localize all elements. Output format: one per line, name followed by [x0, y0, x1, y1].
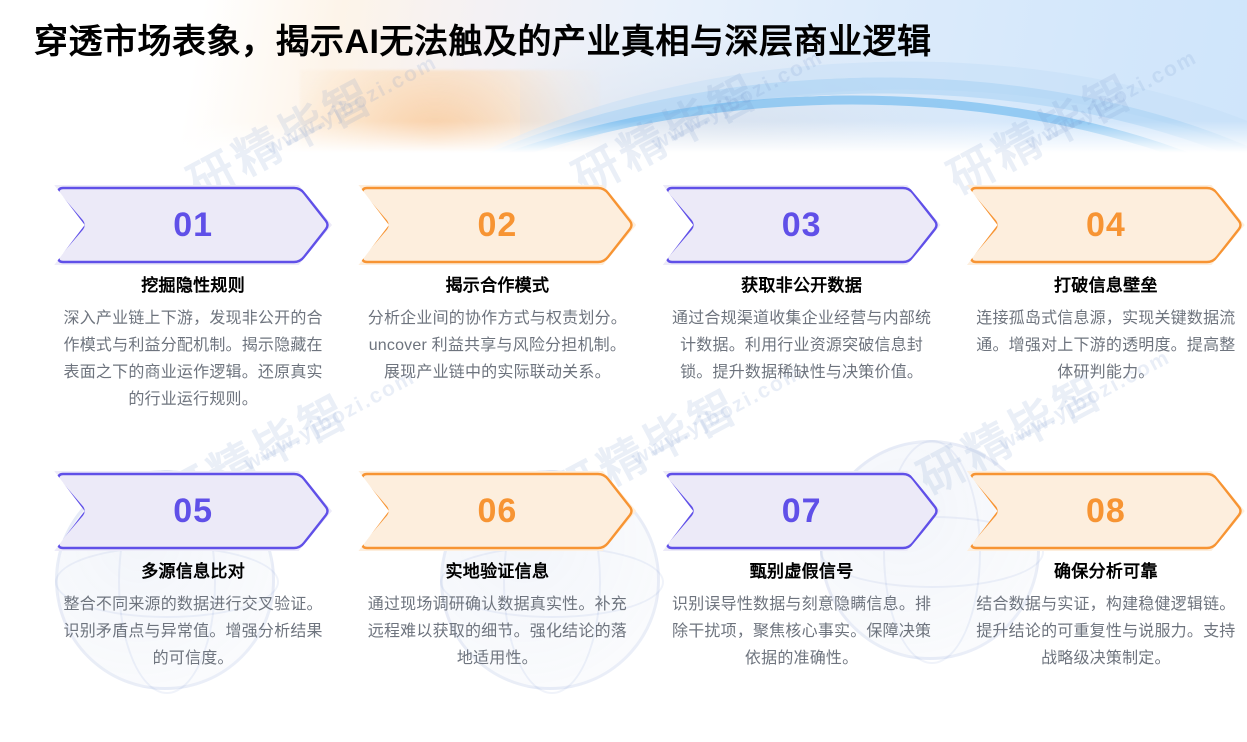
card-heading: 实地验证信息: [445, 561, 549, 583]
card-banner-01: 01: [54, 185, 332, 265]
card-body-text: 连接孤岛式信息源，实现关键数据流通。增强对上下游的透明度。提高整体研判能力。: [975, 306, 1237, 387]
card-number: 05: [173, 494, 213, 528]
card-banner-06: 06: [358, 471, 636, 551]
card-body-text: 整合不同来源的数据进行交叉验证。识别矛盾点与异常值。增强分析结果的可信度。: [62, 592, 324, 673]
cards-grid: 01 挖掘隐性规则 深入产业链上下游，发现非公开的合作模式与利益分配机制。揭示隐…: [0, 157, 1247, 742]
card-banner-02: 02: [358, 185, 636, 265]
card-01[interactable]: 01 挖掘隐性规则 深入产业链上下游，发现非公开的合作模式与利益分配机制。揭示隐…: [52, 185, 334, 477]
card-number: 08: [1086, 494, 1126, 528]
card-body-text: 通过现场调研确认数据真实性。补充远程难以获取的细节。强化结论的落地适用性。: [366, 592, 628, 673]
card-banner-03: 03: [663, 185, 941, 265]
card-03[interactable]: 03 获取非公开数据 通过合规渠道收集企业经营与内部统计数据。利用行业资源突破信…: [661, 185, 943, 477]
card-body-text: 通过合规渠道收集企业经营与内部统计数据。利用行业资源突破信息封锁。提升数据稀缺性…: [671, 306, 933, 387]
card-number: 06: [477, 494, 517, 528]
card-banner-07: 07: [663, 471, 941, 551]
card-body-text: 深入产业链上下游，发现非公开的合作模式与利益分配机制。揭示隐藏在表面之下的商业运…: [62, 306, 324, 414]
card-heading: 甄别虚假信号: [750, 561, 854, 583]
card-body-text: 识别误导性数据与刻意隐瞒信息。排除干扰项，聚焦核心事实。保障决策依据的准确性。: [671, 592, 933, 673]
card-number: 01: [173, 208, 213, 242]
card-number: 03: [782, 208, 822, 242]
card-04[interactable]: 04 打破信息壁垒 连接孤岛式信息源，实现关键数据流通。增强对上下游的透明度。提…: [965, 185, 1247, 477]
cards-row-top: 01 挖掘隐性规则 深入产业链上下游，发现非公开的合作模式与利益分配机制。揭示隐…: [0, 185, 1247, 477]
card-heading: 确保分析可靠: [1054, 561, 1158, 583]
page-title: 穿透市场表象，揭示AI无法触及的产业真相与深层商业逻辑: [34, 21, 932, 64]
card-body-text: 结合数据与实证，构建稳健逻辑链。提升结论的可重复性与说服力。支持战略级决策制定。: [975, 592, 1237, 673]
card-02[interactable]: 02 揭示合作模式 分析企业间的协作方式与权责划分。 uncover 利益共享与…: [356, 185, 638, 477]
card-08[interactable]: 08 确保分析可靠 结合数据与实证，构建稳健逻辑链。提升结论的可重复性与说服力。…: [965, 471, 1247, 742]
card-banner-05: 05: [54, 471, 332, 551]
card-07[interactable]: 07 甄别虚假信号 识别误导性数据与刻意隐瞒信息。排除干扰项，聚焦核心事实。保障…: [661, 471, 943, 742]
card-banner-04: 04: [967, 185, 1245, 265]
card-heading: 多源信息比对: [141, 561, 245, 583]
card-banner-08: 08: [967, 471, 1245, 551]
card-heading: 打破信息壁垒: [1054, 275, 1158, 297]
card-body-text: 分析企业间的协作方式与权责划分。 uncover 利益共享与风险分担机制。展现产…: [366, 306, 628, 387]
card-heading: 挖掘隐性规则: [141, 275, 245, 297]
card-number: 04: [1086, 208, 1126, 242]
card-05[interactable]: 05 多源信息比对 整合不同来源的数据进行交叉验证。识别矛盾点与异常值。增强分析…: [52, 471, 334, 742]
card-heading: 揭示合作模式: [445, 275, 549, 297]
card-number: 02: [477, 208, 517, 242]
card-heading: 获取非公开数据: [741, 275, 862, 297]
band-bottom-fade: [0, 121, 1247, 157]
card-06[interactable]: 06 实地验证信息 通过现场调研确认数据真实性。补充远程难以获取的细节。强化结论…: [356, 471, 638, 742]
slide-page: 穿透市场表象，揭示AI无法触及的产业真相与深层商业逻辑 研精毕智 www.yjb…: [0, 0, 1247, 742]
card-number: 07: [782, 494, 822, 528]
cards-row-bottom: 05 多源信息比对 整合不同来源的数据进行交叉验证。识别矛盾点与异常值。增强分析…: [0, 471, 1247, 742]
